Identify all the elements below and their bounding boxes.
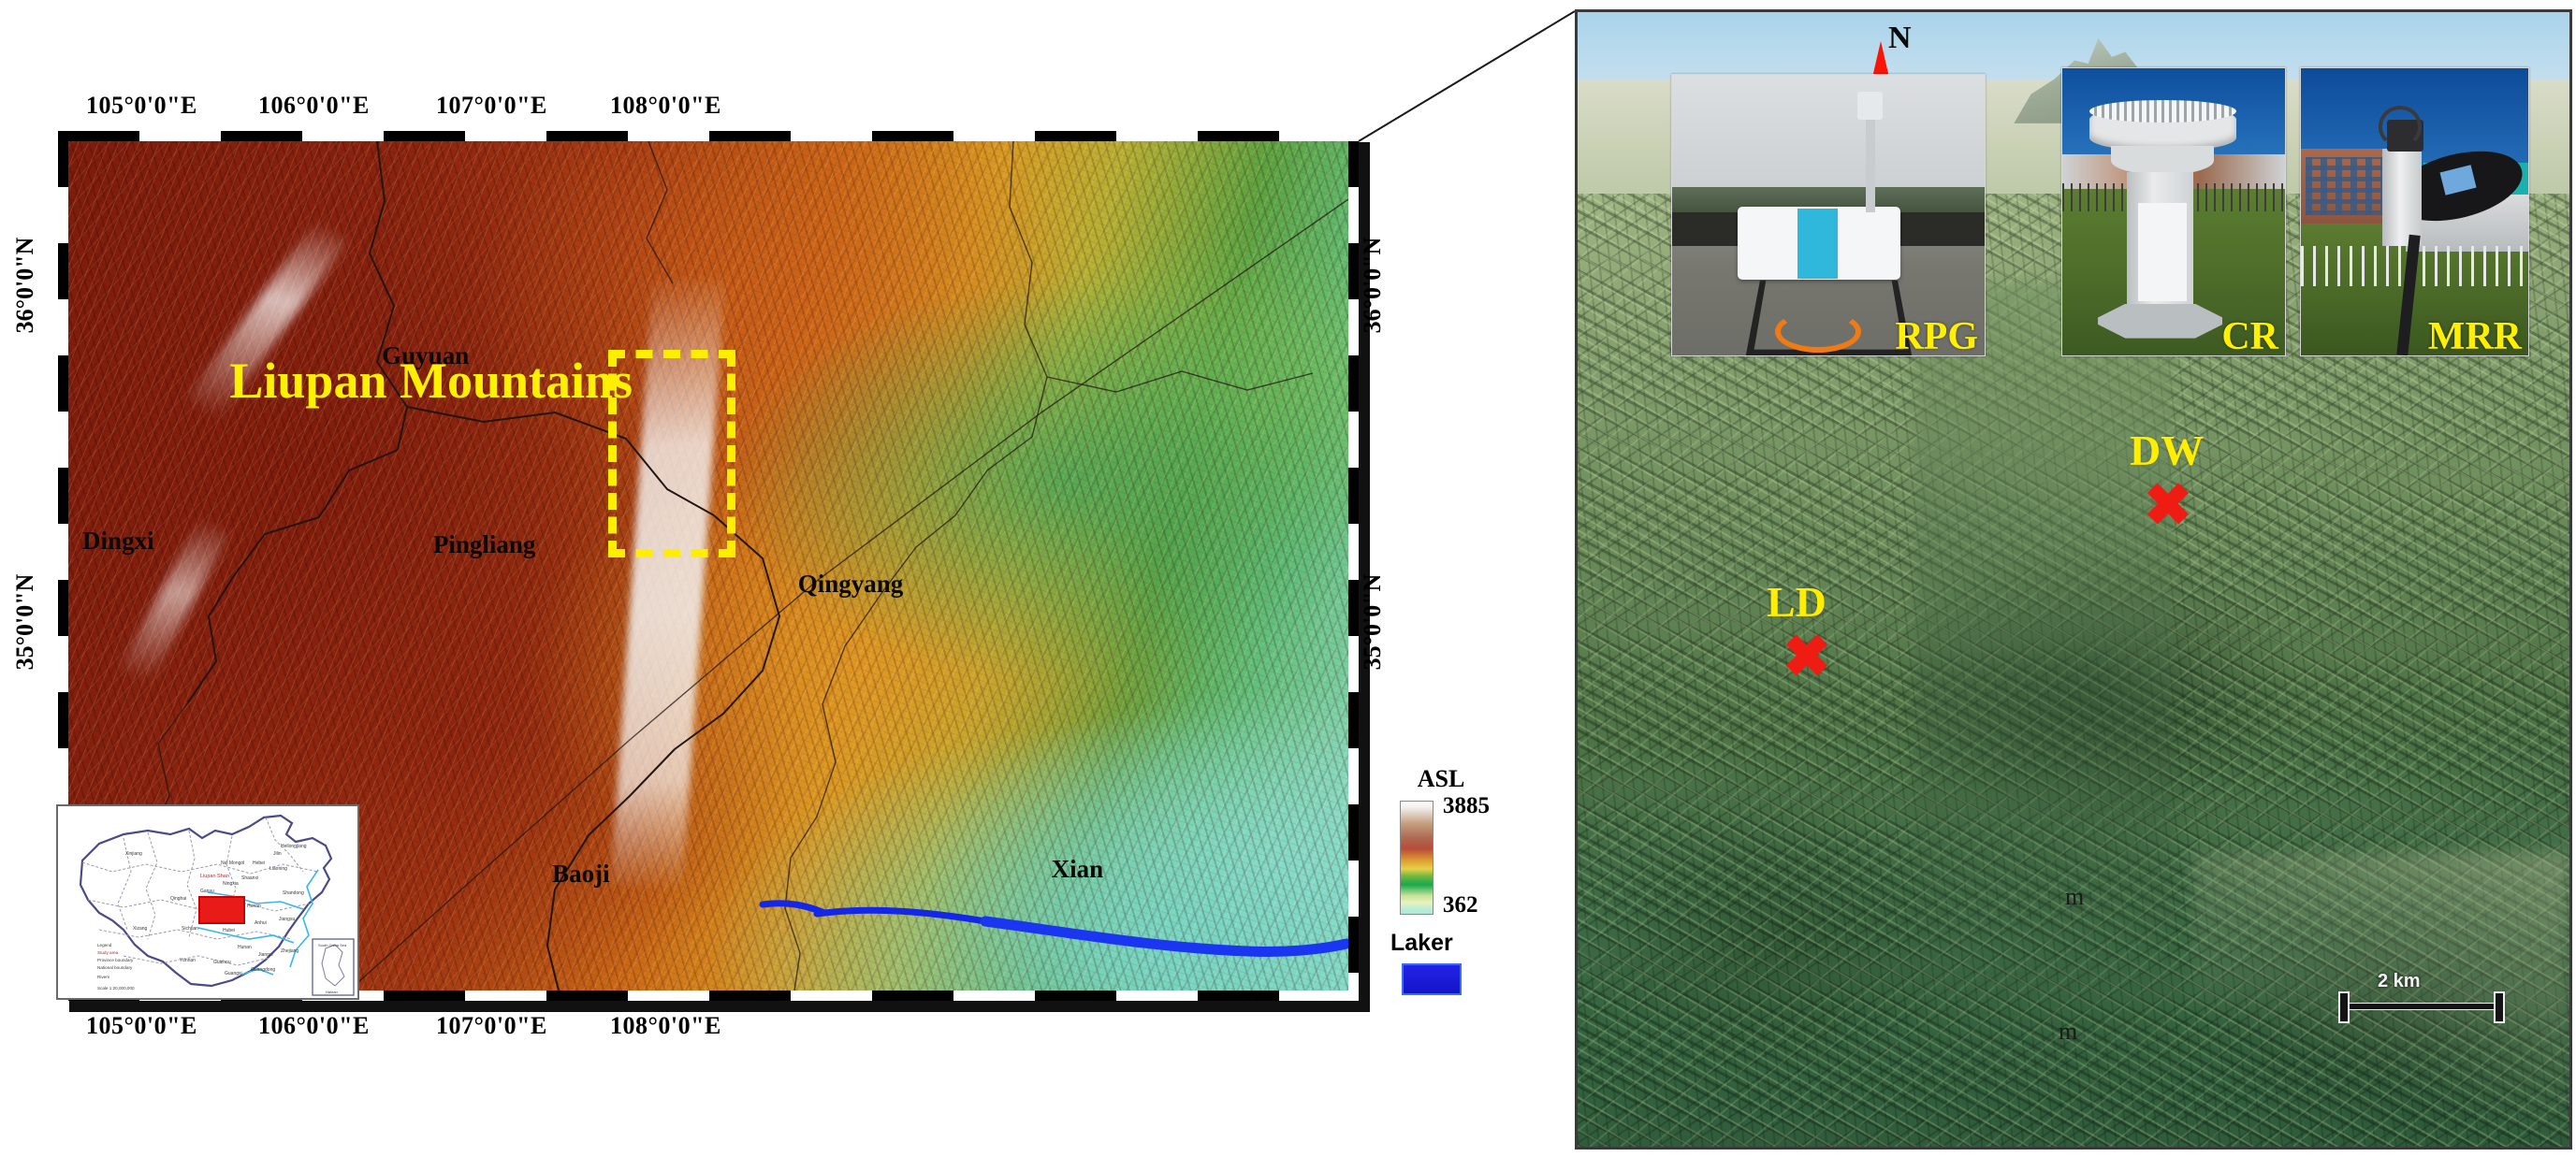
cr-base-feet bbox=[2098, 304, 2222, 339]
lon-tick-top-0: 105°0'0"E bbox=[86, 92, 197, 120]
legend-value-max: 3885 bbox=[1443, 793, 1490, 819]
site-marker-dw: ✖ bbox=[2144, 477, 2192, 535]
svg-text:Henan: Henan bbox=[247, 904, 261, 909]
svg-text:Gansu: Gansu bbox=[200, 889, 214, 894]
lon-tick-bottom-1: 106°0'0"E bbox=[258, 1012, 370, 1040]
city-label-xian: Xian bbox=[1052, 855, 1104, 884]
svg-text:Yunnan: Yunnan bbox=[180, 958, 196, 963]
legend-value-min: 362 bbox=[1443, 892, 1478, 918]
elevation-legend: ASL 3885 362 Laker bbox=[1385, 765, 1497, 793]
lat-tick-right-0: 36°0'0"N bbox=[1359, 224, 1387, 346]
svg-text:Qinghai: Qinghai bbox=[170, 896, 186, 902]
mrr-photo-label: MRR bbox=[2428, 314, 2522, 356]
svg-text:Study area: Study area bbox=[97, 950, 119, 955]
city-label-pingliang: Pingliang bbox=[433, 530, 536, 559]
cr-collar bbox=[2111, 146, 2213, 175]
svg-text:Shaanxi: Shaanxi bbox=[241, 875, 258, 881]
scale-bar-line bbox=[2342, 1003, 2496, 1010]
svg-text:Guangxi: Guangxi bbox=[225, 971, 242, 976]
svg-text:Jilin: Jilin bbox=[273, 851, 282, 857]
svg-text:Zhejiang: Zhejiang bbox=[281, 948, 298, 954]
svg-text:Anhui: Anhui bbox=[255, 920, 267, 926]
legend-title-asl: ASL bbox=[1385, 765, 1497, 793]
svg-text:Guangdong: Guangdong bbox=[251, 967, 275, 973]
lon-tick-bottom-3: 108°0'0"E bbox=[610, 1012, 721, 1040]
china-inset-map: XinjiangQinghai GansuNingxia ShaanxiNei … bbox=[56, 804, 359, 1000]
map-border-top-ticks bbox=[58, 131, 1359, 141]
lon-tick-top-3: 108°0'0"E bbox=[610, 92, 721, 120]
topographic-map-panel: Liupan Mountains Dingxi Guyuan Pingliang… bbox=[0, 0, 1460, 1157]
svg-text:Guizhou: Guizhou bbox=[213, 960, 231, 965]
site-label-dw: DW bbox=[2130, 426, 2204, 475]
svg-text:Scale 1:20,000,000: Scale 1:20,000,000 bbox=[97, 986, 135, 991]
svg-text:National boundary: National boundary bbox=[97, 965, 133, 970]
site-label-ld: LD bbox=[1767, 577, 1826, 627]
valley-floor bbox=[2192, 852, 2569, 1147]
elevation-colorbar bbox=[1400, 801, 1434, 915]
city-label-baoji: Baoji bbox=[552, 860, 610, 889]
rpg-mast-head bbox=[1857, 92, 1883, 120]
legend-title-laker: Laker bbox=[1390, 930, 1453, 957]
svg-text:South China Sea: South China Sea bbox=[318, 943, 347, 947]
svg-text:Jiangxi: Jiangxi bbox=[258, 952, 273, 958]
instrument-photo-cr: CR bbox=[2061, 67, 2286, 356]
svg-text:Xinjiang: Xinjiang bbox=[125, 851, 142, 857]
svg-text:Liupan Shan: Liupan Shan bbox=[200, 874, 229, 879]
svg-text:Sichuan: Sichuan bbox=[182, 926, 198, 932]
instrument-photo-rpg: RPG bbox=[1671, 74, 1986, 356]
rpg-radiometer-window bbox=[1797, 209, 1838, 279]
instrument-photo-mrr: MRR bbox=[2300, 67, 2529, 356]
svg-text:Ningxia: Ningxia bbox=[223, 881, 239, 887]
svg-text:Liaoning: Liaoning bbox=[269, 866, 287, 872]
svg-text:Heilongjiang: Heilongjiang bbox=[281, 844, 307, 849]
svg-text:Legend: Legend bbox=[97, 943, 112, 947]
svg-text:Hunan: Hunan bbox=[238, 945, 252, 950]
svg-text:Rivers: Rivers bbox=[97, 975, 110, 979]
svg-text:Shandong: Shandong bbox=[283, 890, 304, 896]
map-border-right-ticks bbox=[1348, 131, 1359, 1001]
rpg-cable bbox=[1775, 311, 1861, 353]
scale-bar-cap-right bbox=[2494, 991, 2505, 1023]
inset-study-area-highlight bbox=[198, 896, 245, 924]
north-label: N bbox=[1888, 21, 1912, 56]
mrr-electronics-box bbox=[2382, 149, 2421, 246]
lat-tick-left-0: 36°0'0"N bbox=[11, 224, 39, 346]
scale-bar-label: 2 km bbox=[2378, 971, 2421, 992]
terrain-mark-2: m bbox=[2059, 1018, 2077, 1046]
central-ridge-crest bbox=[1914, 284, 2173, 1124]
svg-text:Province boundary: Province boundary bbox=[97, 958, 134, 962]
svg-text:Xizang: Xizang bbox=[133, 926, 148, 932]
cr-windshield-ring bbox=[2089, 100, 2236, 123]
legend-swatch-laker bbox=[1402, 963, 1462, 995]
svg-text:Hebei: Hebei bbox=[253, 861, 265, 866]
lon-tick-top-2: 107°0'0"E bbox=[436, 92, 547, 120]
city-label-dingxi: Dingxi bbox=[82, 527, 154, 556]
scale-bar-cap-left bbox=[2338, 991, 2350, 1023]
terrain-mark-1: m bbox=[2065, 883, 2084, 911]
site-marker-ld: ✖ bbox=[1783, 629, 1831, 687]
cr-photo-label: CR bbox=[2221, 314, 2278, 356]
lon-tick-bottom-2: 107°0'0"E bbox=[436, 1012, 547, 1040]
lon-tick-top-1: 106°0'0"E bbox=[258, 92, 370, 120]
svg-text:Nei Mongol: Nei Mongol bbox=[221, 861, 244, 866]
city-label-guyuan: Guyuan bbox=[382, 341, 469, 370]
city-label-qingyang: Qingyang bbox=[798, 570, 904, 599]
lat-tick-left-1: 35°0'0"N bbox=[11, 561, 39, 683]
lon-tick-bottom-0: 105°0'0"E bbox=[86, 1012, 197, 1040]
cr-access-panel bbox=[2138, 203, 2187, 300]
svg-text:Jiangsu: Jiangsu bbox=[279, 917, 295, 922]
lat-tick-right-1: 35°0'0"N bbox=[1359, 561, 1387, 683]
svg-text:Hainan: Hainan bbox=[326, 990, 338, 994]
mrr-feed-cable bbox=[2379, 106, 2423, 148]
svg-text:Hubei: Hubei bbox=[223, 928, 235, 933]
rpg-photo-label: RPG bbox=[1895, 314, 1978, 356]
